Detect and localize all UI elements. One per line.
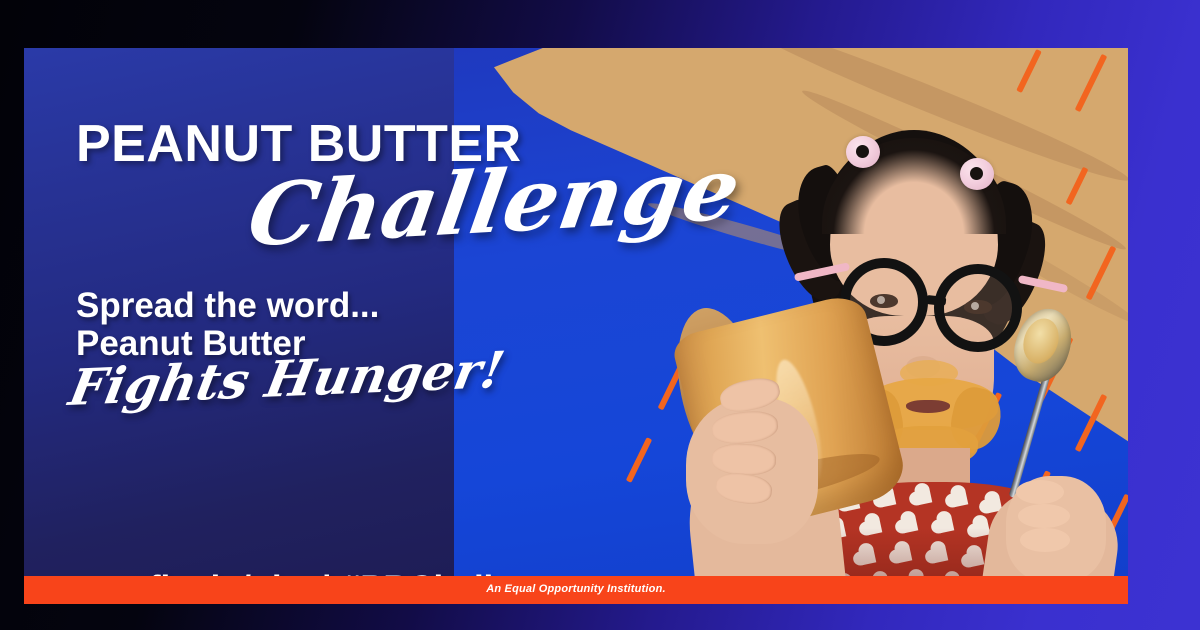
finger: [711, 443, 776, 476]
subline-spread-the-word: Spread the word...: [76, 288, 379, 323]
poster-canvas: PEANUT BUTTER Challenge Spread the word.…: [0, 0, 1200, 630]
knuckle: [1018, 504, 1070, 528]
mouth: [906, 400, 950, 413]
poster-inner-panel: PEANUT BUTTER Challenge Spread the word.…: [24, 48, 1128, 576]
knuckle: [1016, 480, 1064, 504]
glasses-bridge: [926, 295, 947, 306]
equal-opportunity-note: An Equal Opportunity Institution.: [24, 583, 1128, 595]
knuckle: [1020, 528, 1070, 552]
round-glasses-icon-right-lens: [934, 264, 1022, 352]
script-title: Challenge: [243, 147, 746, 260]
pompom-hairtie-icon-left: [846, 136, 880, 168]
pompom-hairtie-icon-right: [960, 158, 994, 190]
script-subline-fights-hunger: Fights Hunger!: [65, 345, 508, 413]
orange-footer-bar: An Equal Opportunity Institution.: [24, 576, 1128, 604]
